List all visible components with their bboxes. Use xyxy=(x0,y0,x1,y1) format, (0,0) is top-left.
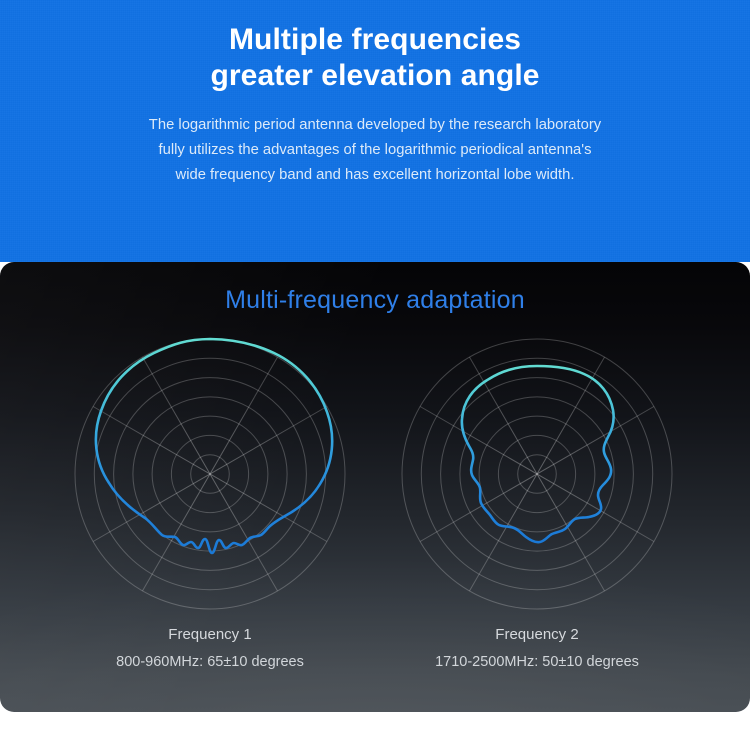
polar-chart-frequency-2: Frequency 2 1710-2500MHz: 50±10 degrees xyxy=(372,324,702,704)
polar-chart-svg-2 xyxy=(372,324,702,624)
headline-line-2: greater elevation angle xyxy=(0,58,750,94)
polar-grid-1 xyxy=(75,339,345,609)
polar-chart-frequency-1: Frequency 1 800-960MHz: 65±10 degrees xyxy=(45,324,375,704)
header-description: The logarithmic period antenna developed… xyxy=(0,94,750,188)
chart-panel: Multi-frequency adaptation xyxy=(0,262,750,712)
caption-title-1: Frequency 1 xyxy=(45,624,375,645)
headline-line-1: Multiple frequencies xyxy=(229,23,521,56)
panel-title: Multi-frequency adaptation xyxy=(0,286,750,315)
polar-chart-svg-1 xyxy=(45,324,375,624)
header-banner: Multiple frequencies greater elevation a… xyxy=(0,0,750,262)
caption-frequency-2: Frequency 2 1710-2500MHz: 50±10 degrees xyxy=(372,624,702,672)
caption-title-2: Frequency 2 xyxy=(372,624,702,645)
caption-detail-2: 1710-2500MHz: 50±10 degrees xyxy=(372,652,702,672)
caption-detail-1: 800-960MHz: 65±10 degrees xyxy=(45,652,375,672)
page-title: Multiple frequencies greater elevation a… xyxy=(0,0,750,94)
description-line-1: The logarithmic period antenna developed… xyxy=(0,113,750,138)
caption-frequency-1: Frequency 1 800-960MHz: 65±10 degrees xyxy=(45,624,375,672)
header-content: Multiple frequencies greater elevation a… xyxy=(0,0,750,188)
polar-chart-group: Frequency 1 800-960MHz: 65±10 degrees xyxy=(0,324,750,704)
description-line-2: fully utilizes the advantages of the log… xyxy=(0,138,750,163)
description-line-3: wide frequency band and has excellent ho… xyxy=(0,163,750,188)
polar-grid-2 xyxy=(402,339,672,609)
page-root: Multiple frequencies greater elevation a… xyxy=(0,0,750,750)
